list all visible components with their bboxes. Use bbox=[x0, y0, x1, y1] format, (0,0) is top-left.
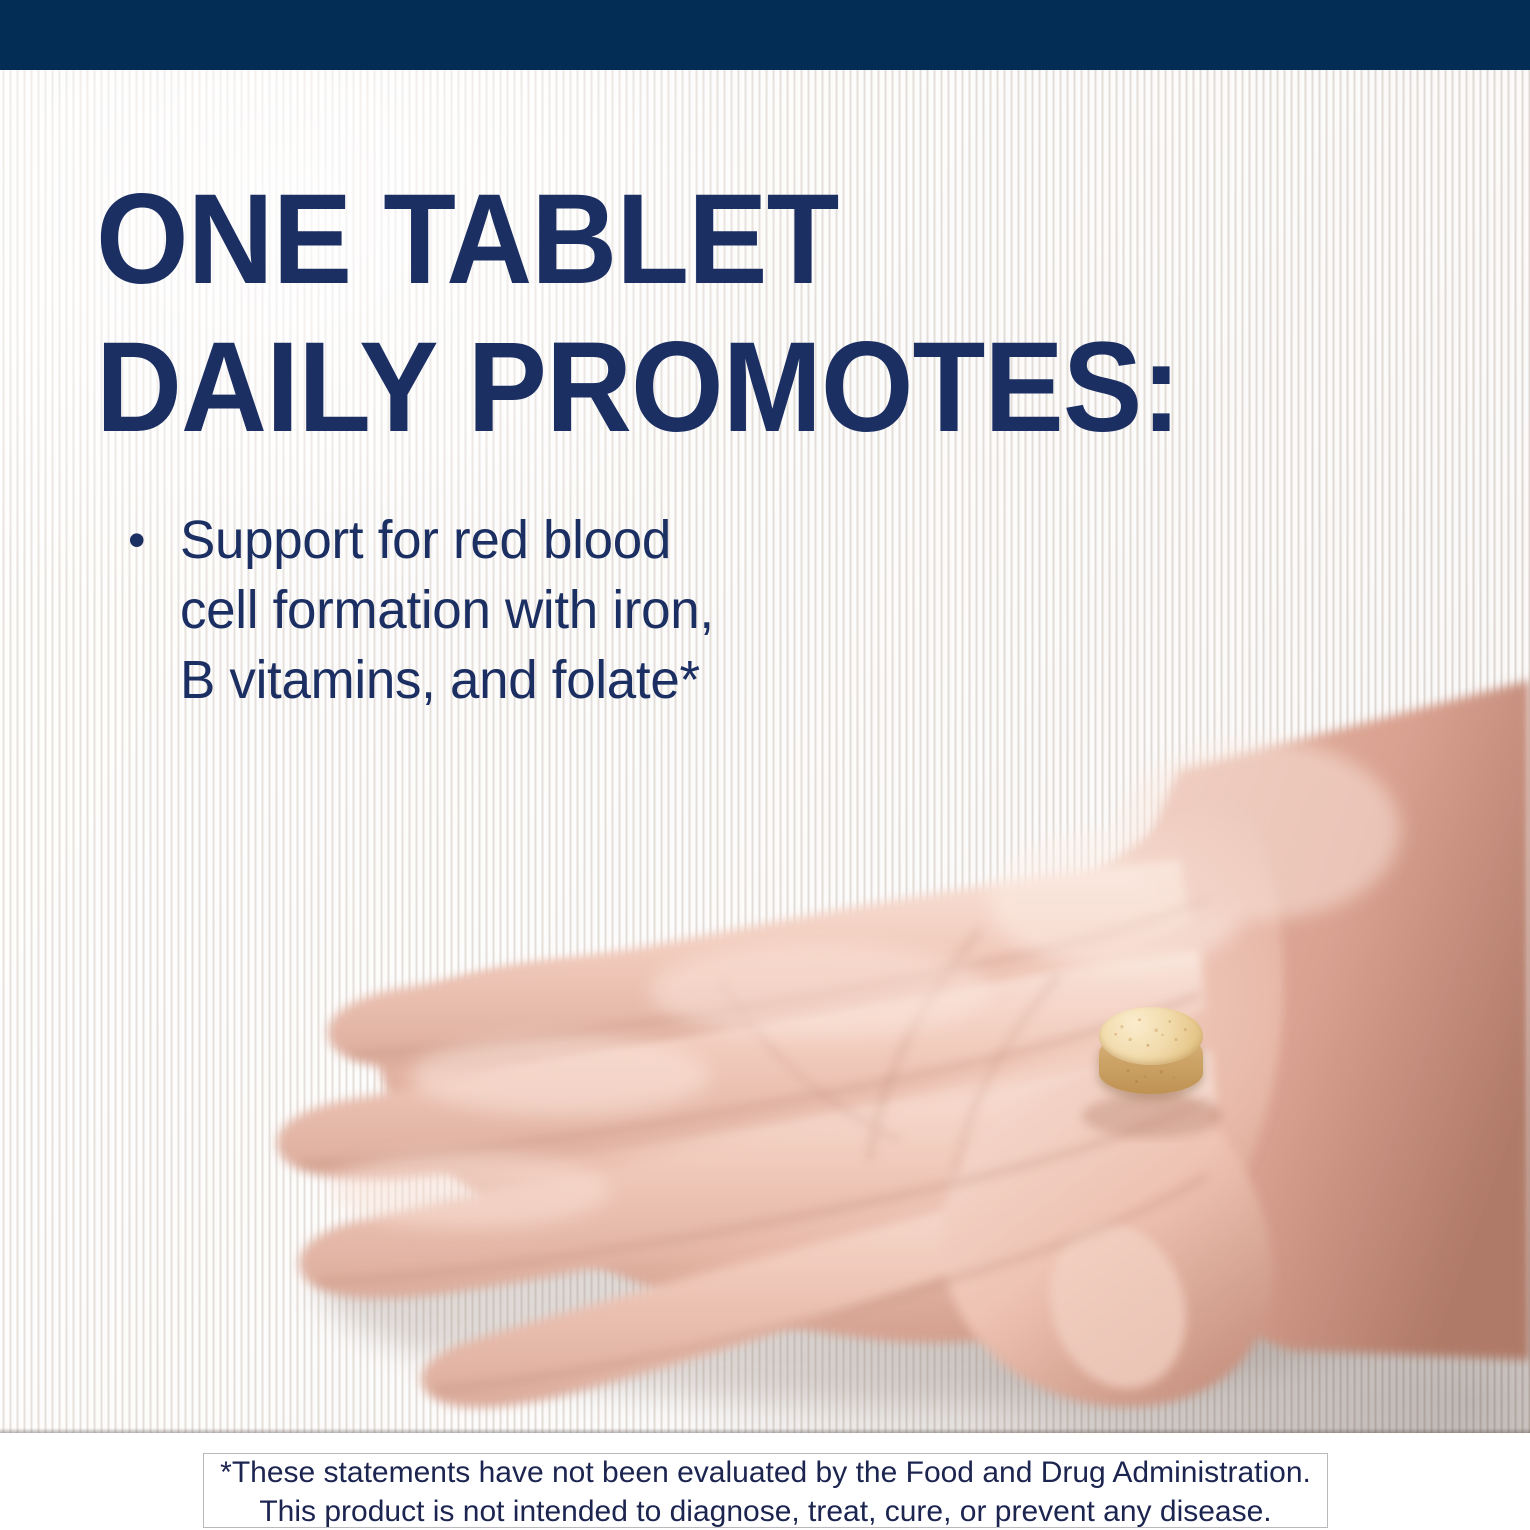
vitamin-tablet bbox=[1097, 1004, 1205, 1112]
list-item: • Support for red blood cell formation w… bbox=[124, 505, 904, 715]
disclaimer-area: *These statements have not been evaluate… bbox=[0, 1433, 1530, 1530]
bullet-point-icon: • bbox=[124, 505, 180, 575]
disclaimer-line-1: *These statements have not been evaluate… bbox=[220, 1453, 1311, 1492]
benefits-list: • Support for red blood cell formation w… bbox=[124, 505, 904, 715]
top-navy-band bbox=[0, 0, 1530, 70]
benefit-text: Support for red blood cell formation wit… bbox=[180, 505, 890, 715]
fda-disclaimer-box: *These statements have not been evaluate… bbox=[203, 1453, 1328, 1528]
tablet-face-speckle bbox=[1099, 1007, 1203, 1065]
page-title: ONE TABLET DAILY PROMOTES: bbox=[96, 166, 1193, 462]
product-marketing-image: ONE TABLET DAILY PROMOTES: • Support for… bbox=[0, 0, 1530, 1530]
disclaimer-line-2: This product is not intended to diagnose… bbox=[259, 1492, 1271, 1530]
